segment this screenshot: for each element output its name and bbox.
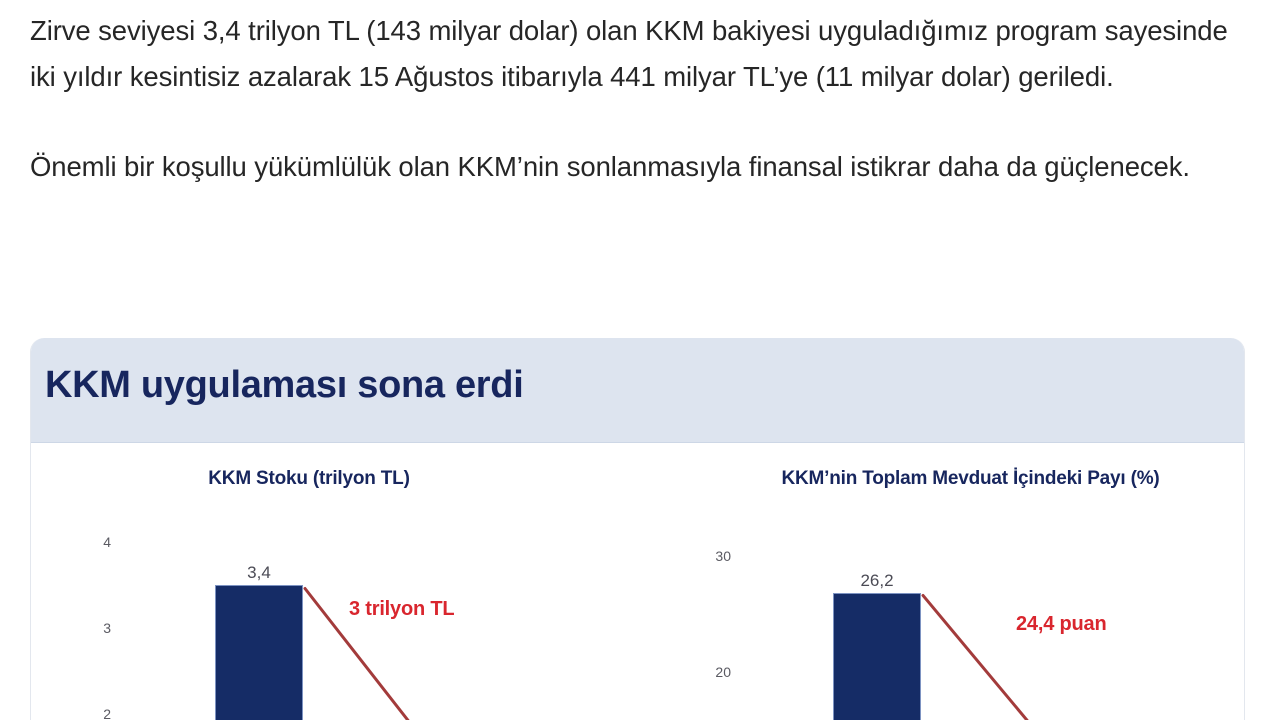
bar-value-label-left: 3,4 — [215, 563, 303, 583]
ytick-right-1: 20 — [697, 664, 731, 680]
ytick-left-2: 2 — [77, 706, 111, 720]
chart-panel-kkm-stoku: KKM Stoku (trilyon TL) 4 3 2 3,4 3 trily… — [31, 443, 651, 720]
ytick-left-0: 4 — [77, 534, 111, 550]
bar-kkm-stoku-peak — [215, 585, 303, 720]
ytick-right-0: 30 — [697, 548, 731, 564]
article-text: Zirve seviyesi 3,4 trilyon TL (143 milya… — [30, 8, 1260, 190]
decline-line-left — [31, 443, 651, 720]
infographic-card: KKM uygulaması sona erdi KKM Stoku (tril… — [30, 338, 1245, 720]
plot-area-left: 4 3 2 3,4 3 trilyon TL — [31, 443, 651, 720]
ytick-left-1: 3 — [77, 620, 111, 636]
annotation-label-right: 24,4 puan — [1016, 613, 1106, 636]
card-header: KKM uygulaması sona erdi — [31, 338, 1244, 443]
annotation-label-left: 3 trilyon TL — [349, 598, 454, 621]
card-title: KKM uygulaması sona erdi — [45, 364, 523, 407]
bar-value-label-right: 26,2 — [833, 571, 921, 591]
plot-area-right: 30 20 26,2 24,4 puan — [651, 443, 1245, 720]
card-body: KKM Stoku (trilyon TL) 4 3 2 3,4 3 trily… — [31, 443, 1244, 720]
article-paragraph-1: Zirve seviyesi 3,4 trilyon TL (143 milya… — [30, 8, 1260, 100]
chart-panel-mevduat-payi: KKM’nin Toplam Mevduat İçindeki Payı (%)… — [651, 443, 1245, 720]
article-paragraph-2: Önemli bir koşullu yükümlülük olan KKM’n… — [30, 144, 1260, 190]
page-root: Zirve seviyesi 3,4 trilyon TL (143 milya… — [0, 0, 1280, 720]
bar-mevduat-payi-peak — [833, 593, 921, 720]
decline-line-right — [651, 443, 1245, 720]
